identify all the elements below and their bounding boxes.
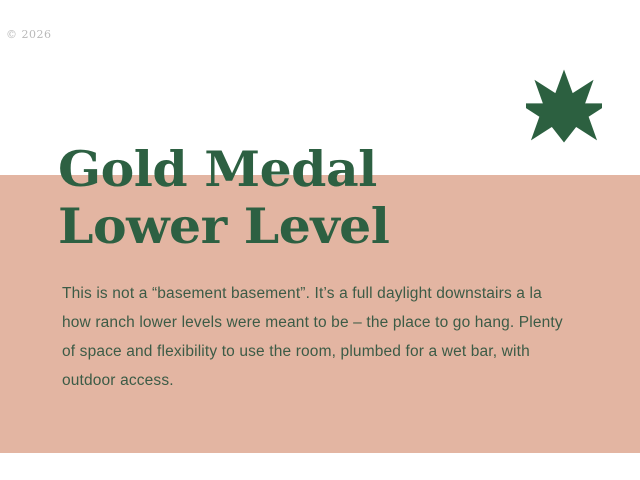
slide-canvas: © 2026 Gold Medal Lower Level This is no… <box>0 0 640 480</box>
seven-point-star-icon <box>526 68 602 144</box>
page-title: Gold Medal Lower Level <box>58 141 518 255</box>
page-title-line-2: Lower Level <box>58 198 532 255</box>
copyright-notice: © 2026 <box>6 28 52 42</box>
page-title-line-1: Gold Medal <box>58 141 532 198</box>
body-paragraph: This is not a “basement basement”. It’s … <box>62 279 568 395</box>
background-band-bottom <box>0 453 640 480</box>
